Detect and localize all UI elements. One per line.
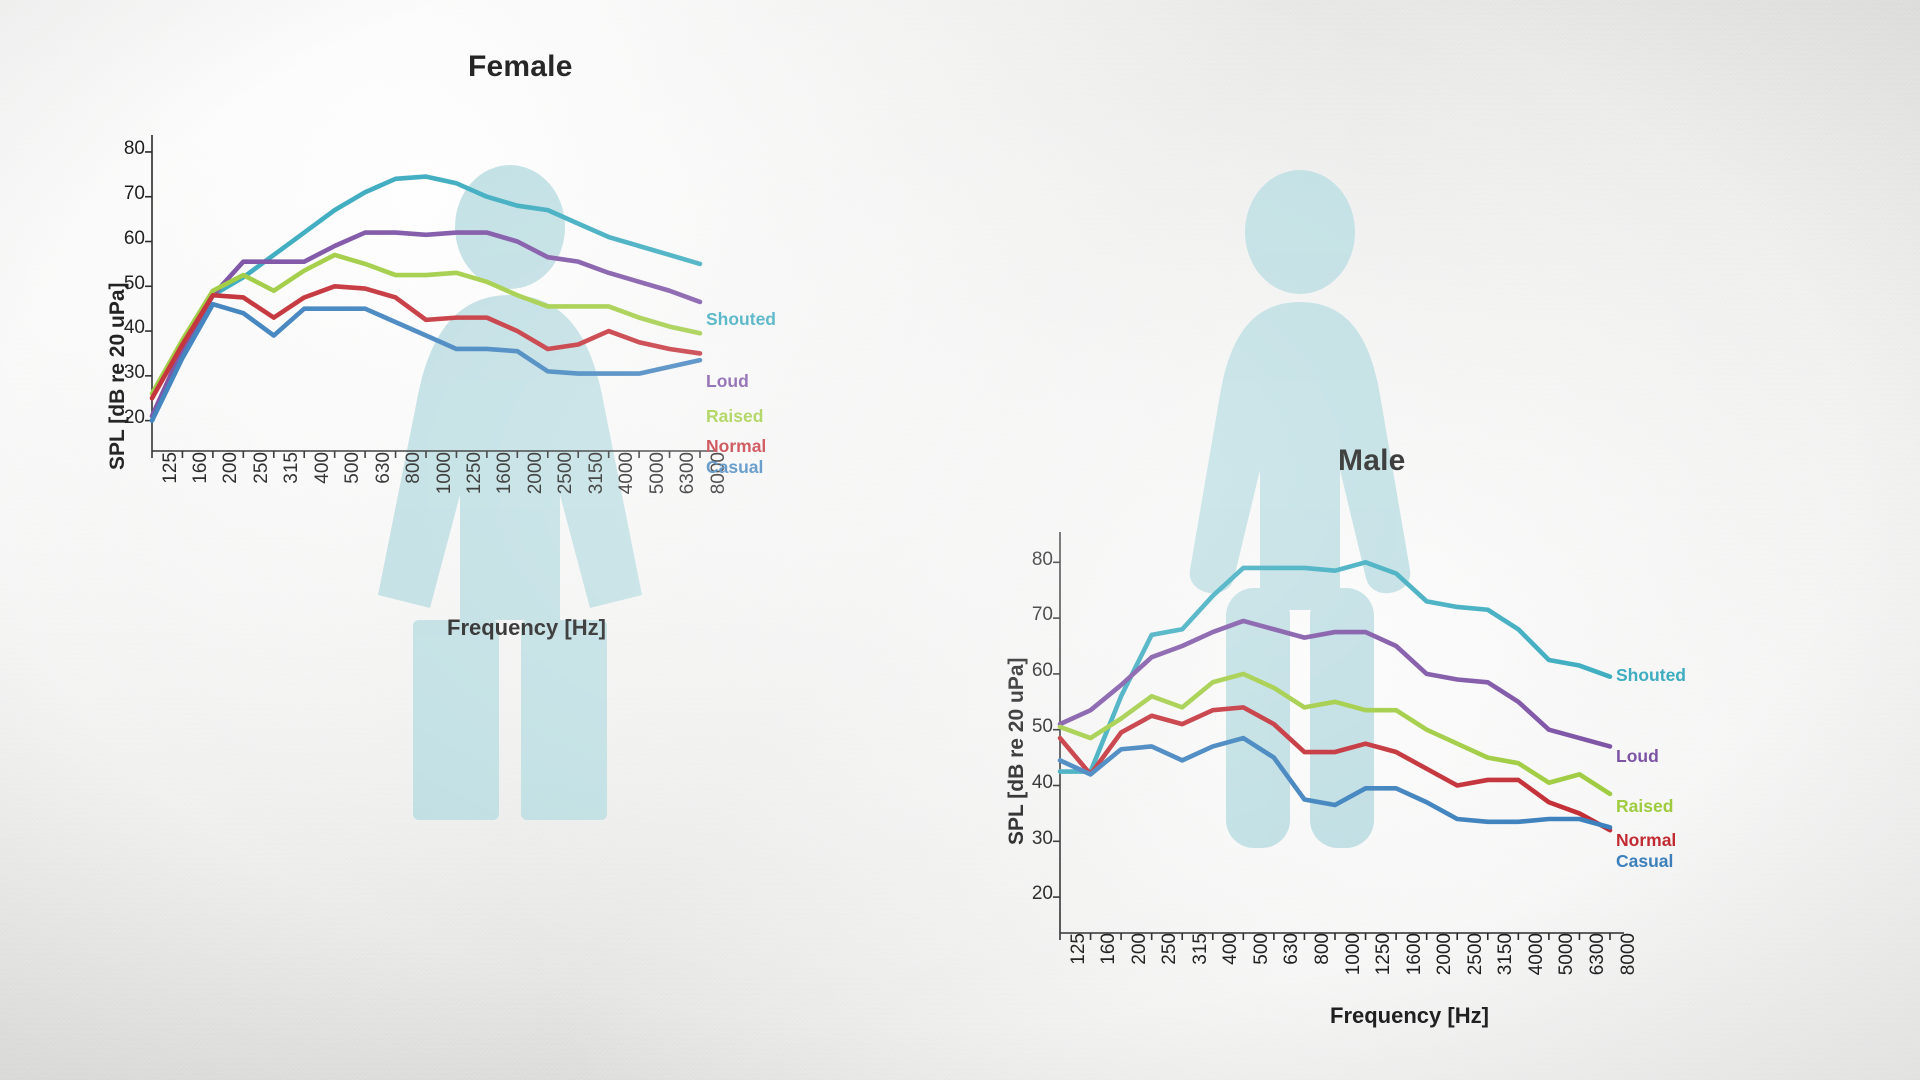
series-label-raised: Raised [1616,796,1673,817]
x-tick-label: 1600 [1404,933,1426,993]
x-tick-label: 1250 [1373,933,1395,993]
y-tick-label: 40 [85,317,145,339]
female-plot-area [0,0,960,680]
y-tick-label: 70 [85,183,145,205]
male-plot-area [950,0,1920,1080]
y-tick-label: 50 [85,273,145,295]
x-tick-label: 4000 [1526,933,1548,993]
series-label-normal: Normal [706,436,766,457]
series-line-loud [152,233,700,417]
y-tick-label: 30 [993,828,1053,850]
y-tick-label: 40 [993,772,1053,794]
x-tick-label: 6300 [1587,933,1609,993]
y-tick-label: 50 [993,716,1053,738]
y-tick-label: 80 [993,549,1053,571]
x-tick-label: 3150 [586,452,608,512]
x-tick-label: 400 [312,452,334,512]
y-tick-label: 80 [85,138,145,160]
x-tick-label: 200 [1129,933,1151,993]
series-line-raised [1060,674,1610,794]
x-tick-label: 4000 [616,452,638,512]
y-tick-label: 30 [85,362,145,384]
series-line-normal [152,286,700,398]
series-label-normal: Normal [1616,830,1676,851]
x-tick-label: 500 [1251,933,1273,993]
series-label-casual: Casual [706,457,763,478]
x-tick-label: 800 [403,452,425,512]
series-label-loud: Loud [1616,746,1659,767]
series-label-raised: Raised [706,406,763,427]
x-tick-label: 5000 [647,452,669,512]
x-tick-label: 630 [1281,933,1303,993]
x-tick-label: 500 [342,452,364,512]
x-tick-label: 160 [1098,933,1120,993]
female-chart: Female SPL [dB re 20 uPa] Frequency [Hz]… [0,0,960,680]
x-tick-label: 630 [373,452,395,512]
x-tick-label: 2000 [1434,933,1456,993]
x-tick-label: 125 [160,452,182,512]
x-tick-label: 1000 [434,452,456,512]
x-tick-label: 125 [1068,933,1090,993]
x-tick-label: 6300 [677,452,699,512]
x-tick-label: 1600 [494,452,516,512]
x-tick-label: 315 [1190,933,1212,993]
x-tick-label: 1250 [464,452,486,512]
x-tick-label: 3150 [1495,933,1517,993]
x-tick-label: 400 [1220,933,1242,993]
series-label-casual: Casual [1616,851,1673,872]
x-tick-label: 2500 [555,452,577,512]
x-tick-label: 800 [1312,933,1334,993]
x-tick-label: 8000 [1618,933,1640,993]
x-tick-label: 315 [281,452,303,512]
y-tick-label: 20 [85,407,145,429]
y-tick-label: 70 [993,604,1053,626]
male-chart: Male SPL [dB re 20 uPa] Frequency [Hz] 2… [950,0,1920,1080]
x-tick-label: 5000 [1556,933,1578,993]
x-tick-label: 1000 [1343,933,1365,993]
x-tick-label: 250 [1159,933,1181,993]
x-tick-label: 2500 [1465,933,1487,993]
x-tick-label: 160 [190,452,212,512]
x-tick-label: 250 [251,452,273,512]
y-tick-label: 60 [993,660,1053,682]
series-label-loud: Loud [706,371,749,392]
x-tick-label: 200 [220,452,242,512]
x-tick-label: 2000 [525,452,547,512]
y-tick-label: 20 [993,883,1053,905]
series-label-shouted: Shouted [706,309,776,330]
y-tick-label: 60 [85,228,145,250]
series-label-shouted: Shouted [1616,665,1686,686]
